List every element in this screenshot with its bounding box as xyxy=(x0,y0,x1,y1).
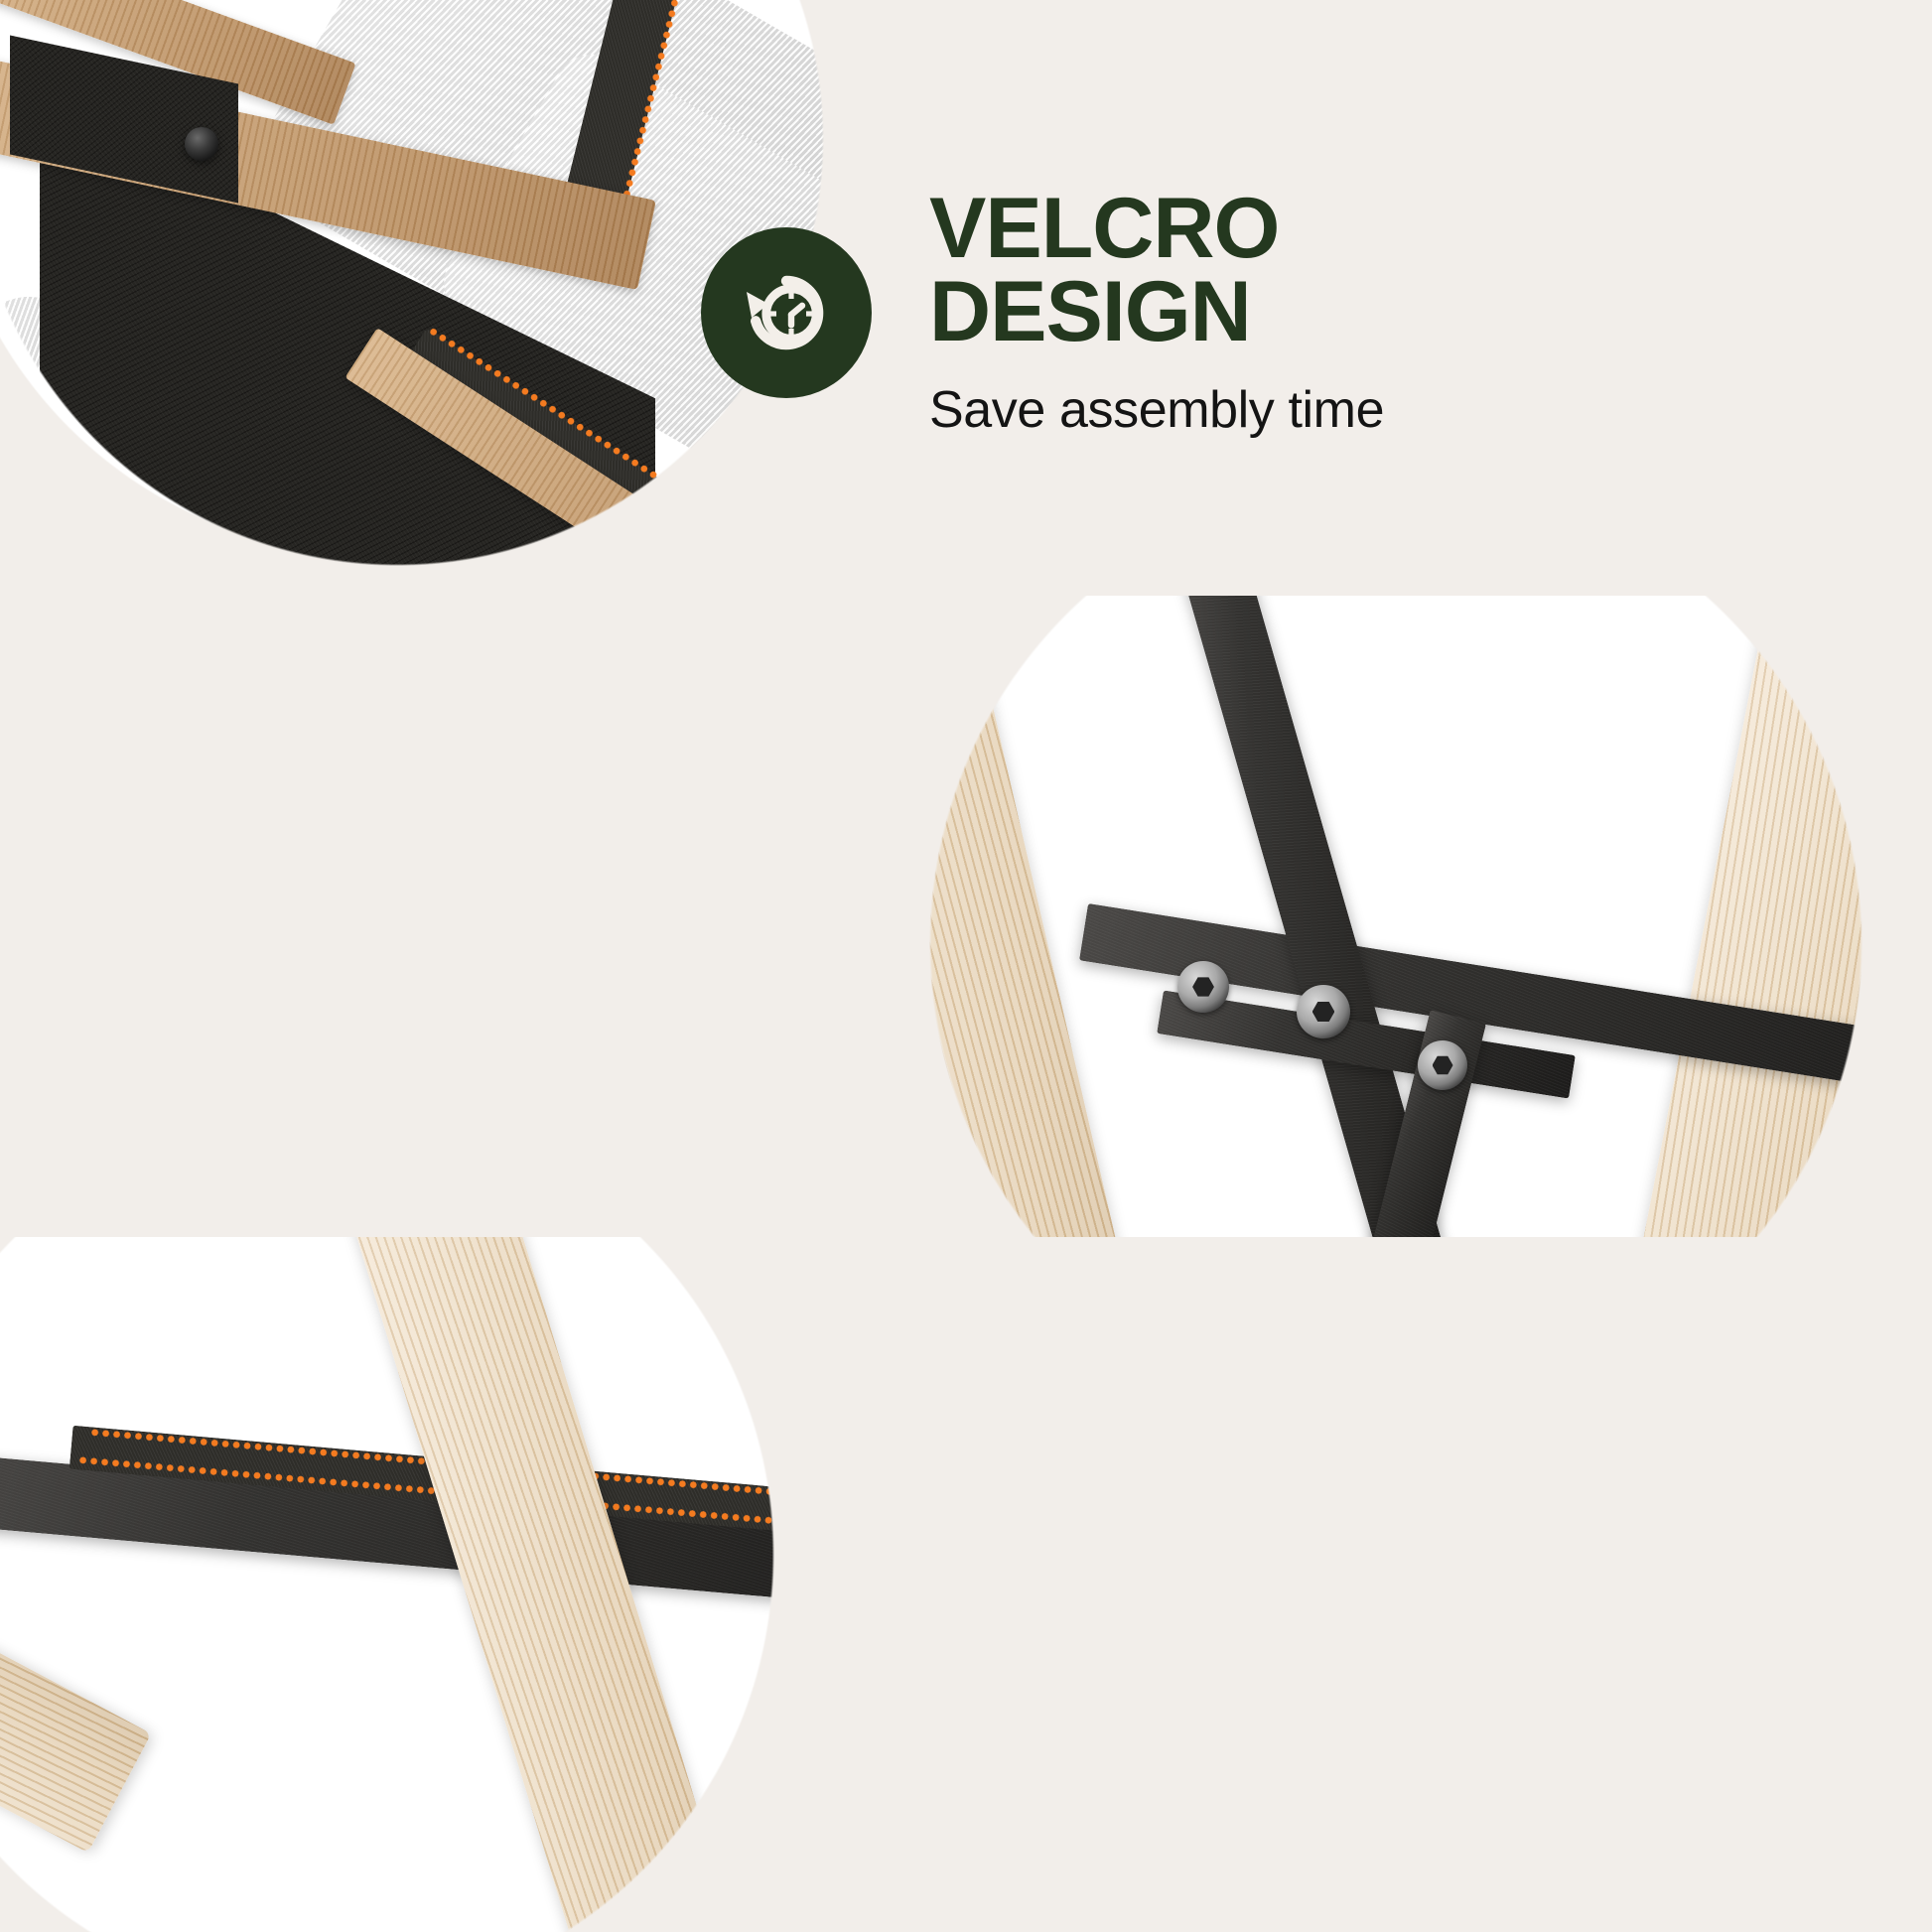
wood-slat-right xyxy=(1593,596,1932,1237)
frame-cap-button-top xyxy=(185,127,218,161)
hex-bolt-left xyxy=(1177,961,1229,1013)
feature-band-sponge: SILENT SPONGE Reduce metal noise xyxy=(0,1237,1932,1932)
feature-velcro-title: VELCRO DESIGN xyxy=(929,187,1279,354)
product-photo-structure xyxy=(929,596,1932,1237)
hex-bolt-right xyxy=(1418,1040,1467,1090)
feature-velcro-text: VELCRO DESIGN Save assembly time xyxy=(929,187,1384,440)
infographic-canvas: VELCRO DESIGN Save assembly time SOLID S… xyxy=(0,0,1932,1932)
feature-band-velcro: VELCRO DESIGN Save assembly time xyxy=(0,0,1932,596)
feature-band-structure: SOLID STRUCTURE Extend service life xyxy=(0,596,1932,1237)
product-photo-sponge xyxy=(0,1237,1003,1932)
clock-rotate-icon-badge xyxy=(701,227,872,398)
hex-bolt-center xyxy=(1297,985,1350,1038)
feature-velcro-subtitle: Save assembly time xyxy=(929,380,1384,440)
clock-rotate-icon xyxy=(739,265,834,360)
feature-velcro-design: VELCRO DESIGN Save assembly time xyxy=(701,187,1384,440)
wood-slat-left xyxy=(704,596,1151,1237)
